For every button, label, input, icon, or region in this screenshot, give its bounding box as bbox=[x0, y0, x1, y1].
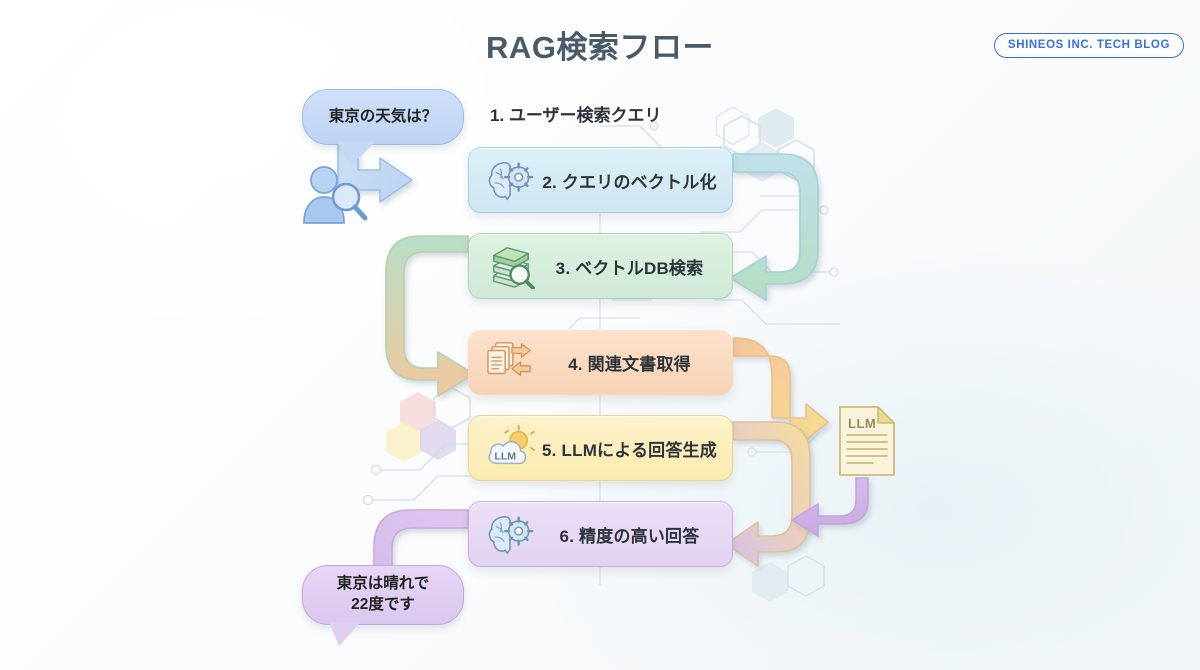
step-box-6[interactable]: 6. 精度の高い回答 bbox=[468, 501, 733, 567]
diagram-canvas: RAG検索フロー SHINEOS INC. TECH BLOG 1. ユーザー検… bbox=[0, 0, 1200, 670]
documents-exchange-icon bbox=[482, 336, 538, 388]
step-box-4[interactable]: 4. 関連文書取得 bbox=[468, 329, 733, 395]
llm-document-icon: LLM bbox=[838, 405, 896, 477]
svg-text:LLM: LLM bbox=[494, 451, 516, 463]
step-6-label: 6. 精度の高い回答 bbox=[539, 522, 732, 547]
brand-badge: SHINEOS INC. TECH BLOG bbox=[994, 33, 1184, 58]
step-box-5[interactable]: LLM 5. LLMによる回答生成 bbox=[468, 415, 733, 481]
answer-line-1: 東京は晴れで bbox=[337, 575, 430, 592]
brain-gear-icon bbox=[483, 154, 539, 206]
user-query-bubble: 東京の天気は？ bbox=[302, 89, 464, 145]
step-1-label: 1. ユーザー検索クエリ bbox=[490, 101, 662, 126]
step-box-2[interactable]: 2. クエリのベクトル化 bbox=[468, 147, 733, 213]
answer-line-2: 22度です bbox=[351, 596, 415, 613]
answer-bubble: 東京は晴れで 22度です bbox=[302, 565, 464, 625]
brain-gear-purple-icon bbox=[483, 508, 539, 560]
user-query-text: 東京の天気は？ bbox=[329, 107, 438, 128]
step-3-label: 3. ベクトルDB検索 bbox=[539, 254, 732, 279]
step-4-label: 4. 関連文書取得 bbox=[538, 350, 733, 375]
llm-document-label: LLM bbox=[848, 416, 876, 431]
step-5-label: 5. LLMによる回答生成 bbox=[539, 436, 732, 461]
step-box-3[interactable]: 3. ベクトルDB検索 bbox=[468, 233, 733, 299]
database-search-icon bbox=[483, 240, 539, 292]
bubble-tail bbox=[329, 622, 361, 646]
user-search-icon bbox=[298, 163, 370, 229]
step-2-label: 2. クエリのベクトル化 bbox=[539, 168, 732, 193]
llm-cloud-sun-icon: LLM bbox=[483, 422, 539, 474]
